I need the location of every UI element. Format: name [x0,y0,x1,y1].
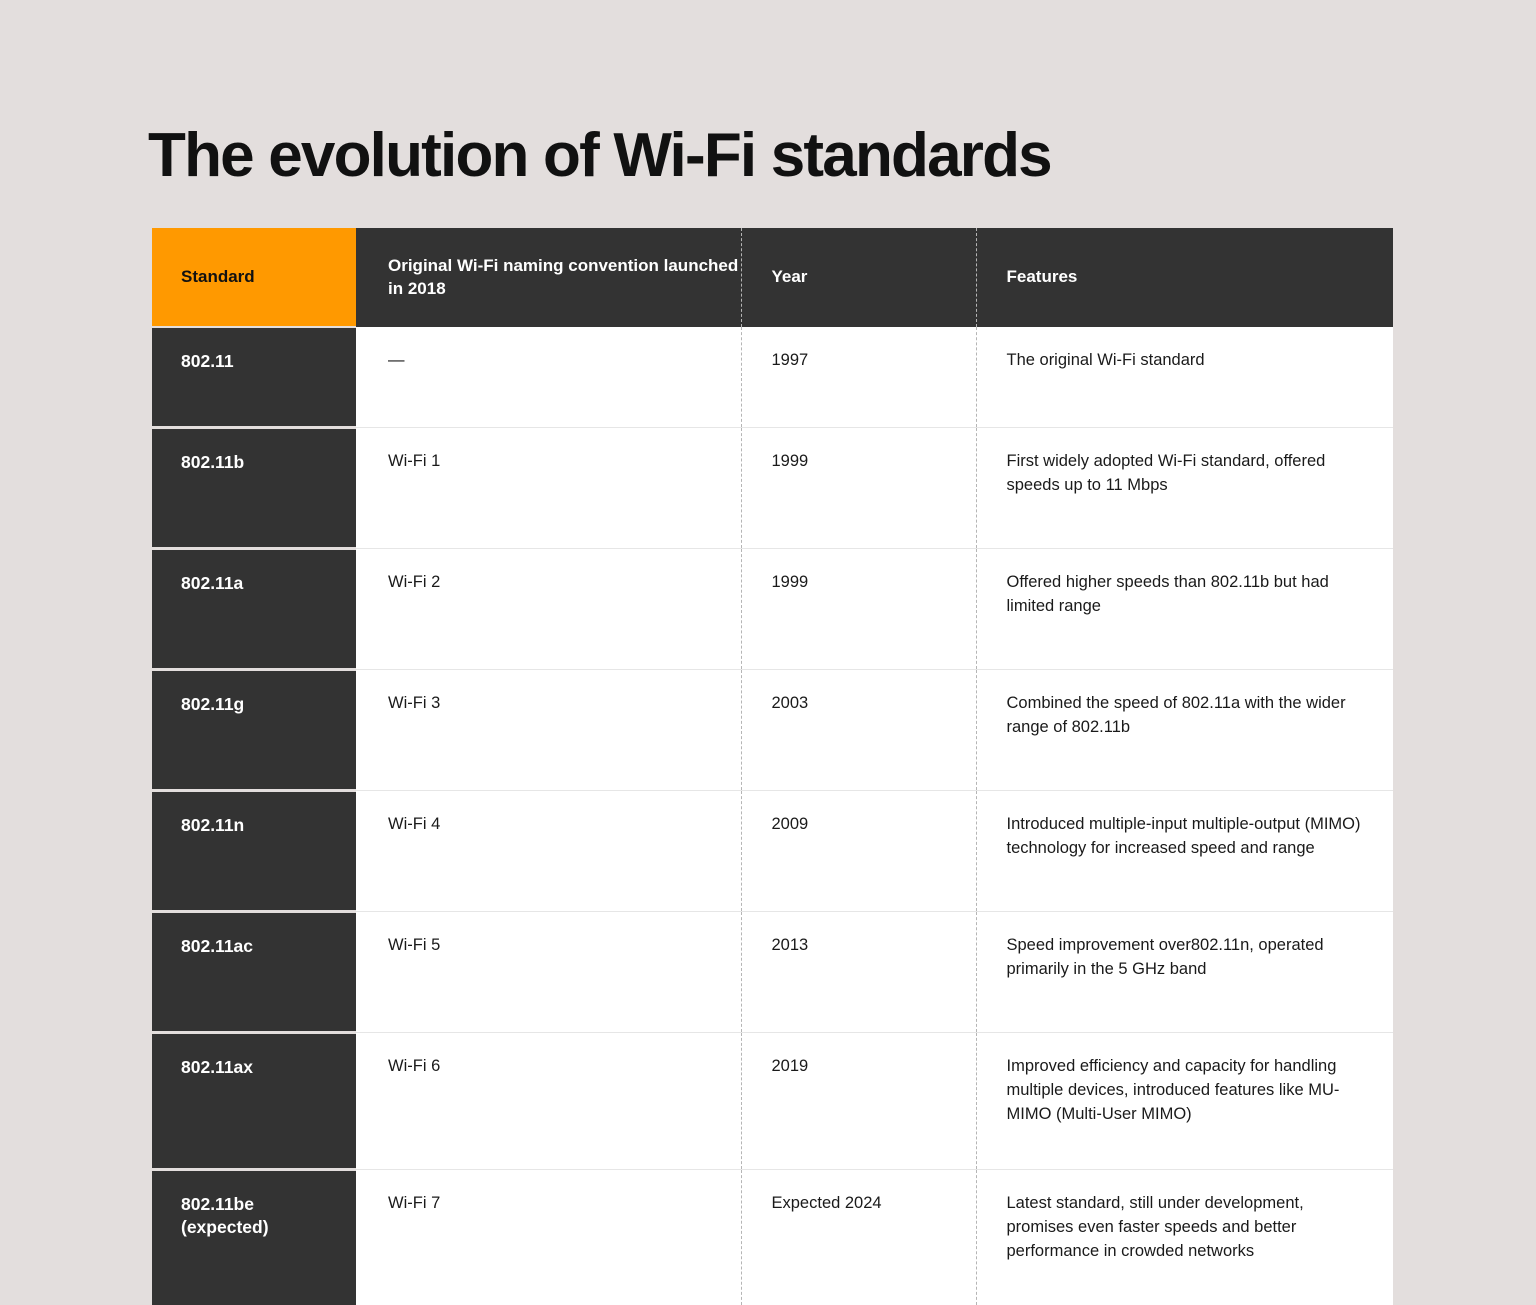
cell-naming: Wi-Fi 6 [356,1033,741,1170]
table-header-row: Standard Original Wi-Fi naming conventio… [152,228,1393,327]
cell-naming: Wi-Fi 5 [356,912,741,1033]
cell-year: 2009 [741,791,976,912]
cell-year: 1999 [741,549,976,670]
column-header-features: Features [976,228,1393,327]
page-root: The evolution of Wi-Fi standards Standar… [0,0,1536,1250]
cell-standard: 802.11ac [152,912,356,1033]
cell-features: Latest standard, still under development… [976,1170,1393,1305]
cell-year: Expected 2024 [741,1170,976,1305]
cell-standard: 802.11be (expected) [152,1170,356,1305]
table-row: 802.11gWi-Fi 32003Combined the speed of … [152,670,1393,791]
column-header-standard: Standard [152,228,356,327]
cell-year: 2019 [741,1033,976,1170]
cell-features: Improved efficiency and capacity for han… [976,1033,1393,1170]
cell-year: 1999 [741,428,976,549]
cell-features: Combined the speed of 802.11a with the w… [976,670,1393,791]
table-row: 802.11be (expected)Wi-Fi 7Expected 2024L… [152,1170,1393,1305]
cell-naming: Wi-Fi 4 [356,791,741,912]
cell-standard: 802.11g [152,670,356,791]
page-title: The evolution of Wi-Fi standards [148,120,1051,191]
cell-features: Speed improvement over802.11n, operated … [976,912,1393,1033]
cell-naming: Wi-Fi 7 [356,1170,741,1305]
cell-naming: — [356,327,741,428]
table-row: 802.11aWi-Fi 21999Offered higher speeds … [152,549,1393,670]
table-row: 802.11acWi-Fi 52013Speed improvement ove… [152,912,1393,1033]
cell-naming: Wi-Fi 1 [356,428,741,549]
table-header: Standard Original Wi-Fi naming conventio… [152,228,1393,327]
cell-standard: 802.11a [152,549,356,670]
cell-features: Offered higher speeds than 802.11b but h… [976,549,1393,670]
wifi-standards-table-wrapper: Standard Original Wi-Fi naming conventio… [152,228,1393,1305]
cell-year: 2013 [741,912,976,1033]
cell-features: The original Wi-Fi standard [976,327,1393,428]
cell-standard: 802.11b [152,428,356,549]
column-header-naming-convention: Original Wi-Fi naming convention launche… [356,228,741,327]
cell-standard: 802.11n [152,791,356,912]
table-row: 802.11bWi-Fi 11999First widely adopted W… [152,428,1393,549]
cell-standard: 802.11 [152,327,356,428]
cell-standard: 802.11ax [152,1033,356,1170]
cell-year: 2003 [741,670,976,791]
table-row: 802.11—1997The original Wi-Fi standard [152,327,1393,428]
wifi-standards-table: Standard Original Wi-Fi naming conventio… [152,228,1393,1305]
column-header-year: Year [741,228,976,327]
table-body: 802.11—1997The original Wi-Fi standard80… [152,327,1393,1305]
cell-features: Introduced multiple-input multiple-outpu… [976,791,1393,912]
table-row: 802.11axWi-Fi 62019Improved efficiency a… [152,1033,1393,1170]
cell-naming: Wi-Fi 3 [356,670,741,791]
cell-year: 1997 [741,327,976,428]
cell-naming: Wi-Fi 2 [356,549,741,670]
table-row: 802.11nWi-Fi 42009Introduced multiple-in… [152,791,1393,912]
cell-features: First widely adopted Wi-Fi standard, off… [976,428,1393,549]
